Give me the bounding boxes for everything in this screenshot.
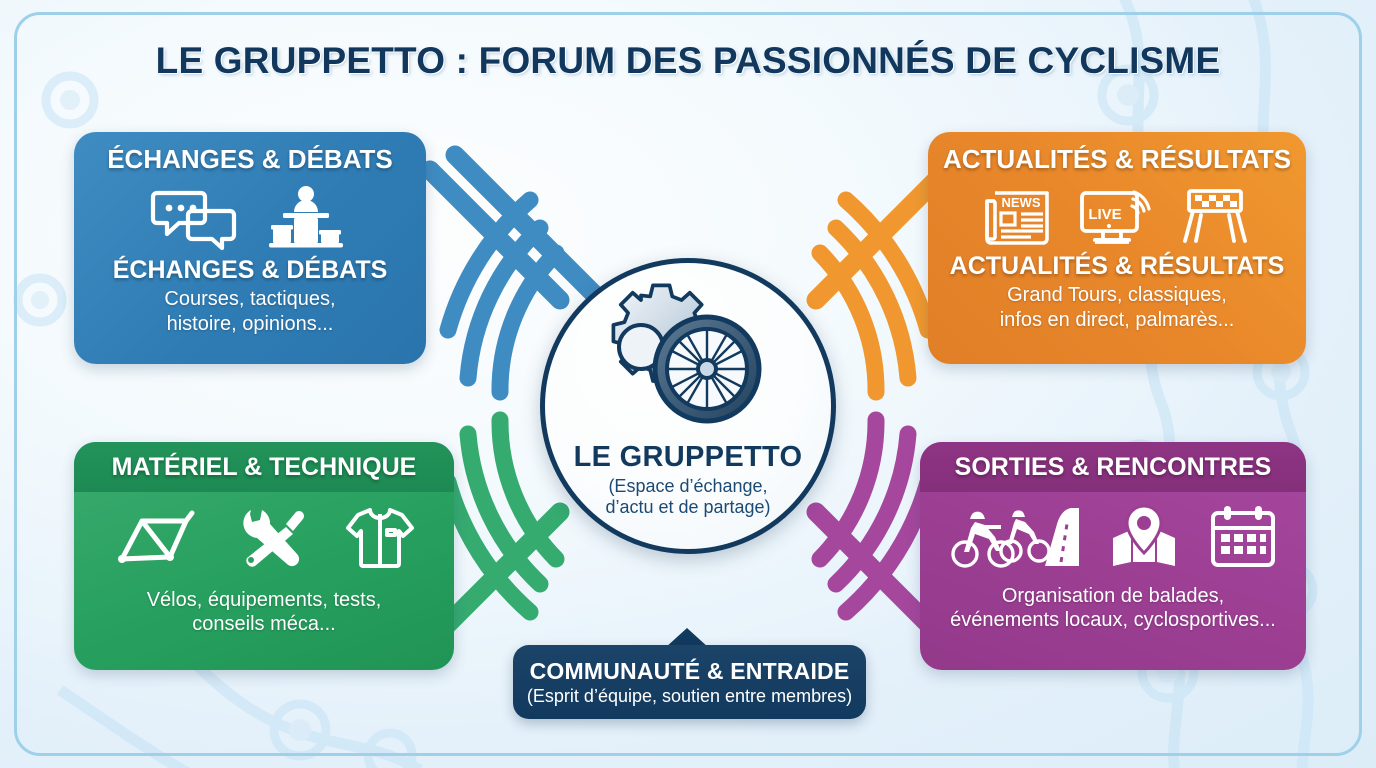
panel-sorties-icons: [920, 492, 1306, 574]
panel-echanges-icons: [74, 175, 426, 257]
panel-materiel-desc: Vélos, équipements, tests, conseils méca…: [74, 576, 454, 637]
panel-actualites-heading: ACTUALITÉS & RÉSULTATS: [928, 253, 1306, 279]
newspaper-news-icon: NEWS: [981, 185, 1051, 247]
panel-sorties-header: SORTIES & RENCONTRES: [920, 442, 1306, 492]
hub-title: LE GRUPPETTO: [574, 441, 803, 474]
podium-speaker-icon: [264, 185, 348, 251]
hub-subtitle: (Espace d’échange, d’actu et de partage): [605, 476, 770, 518]
news-label: NEWS: [1002, 195, 1041, 210]
panel-echanges-heading: ÉCHANGES & DÉBATS: [74, 257, 426, 283]
panel-actualites-desc: Grand Tours, classiques, infos en direct…: [928, 279, 1306, 332]
map-pin-icon: [1107, 504, 1181, 568]
panel-materiel-header: MATÉRIEL & TECHNIQUE: [74, 442, 454, 492]
panel-echanges-heading-top: ÉCHANGES & DÉBATS: [74, 132, 426, 175]
calendar-icon: [1209, 504, 1277, 568]
finish-line-arch-icon: [1177, 185, 1253, 247]
banner-subtitle: (Esprit d’équipe, soutien entre membres): [527, 686, 852, 707]
panel-actualites-icons: NEWS LIVE: [928, 175, 1306, 253]
banner-title: COMMUNAUTÉ & ENTRAIDE: [530, 658, 850, 685]
panel-echanges-desc: Courses, tactiques, histoire, opinions..…: [74, 283, 426, 336]
wrench-screwdriver-icon: [234, 506, 314, 570]
panel-actualites-resultats[interactable]: ACTUALITÉS & RÉSULTATS NEWS: [928, 132, 1306, 364]
banner-communaute-entraide[interactable]: COMMUNAUTÉ & ENTRAIDE (Esprit d’équipe, …: [513, 645, 866, 719]
panel-materiel-technique[interactable]: MATÉRIEL & TECHNIQUE: [74, 442, 454, 670]
panel-materiel-icons: [74, 492, 454, 576]
center-hub[interactable]: LE GRUPPETTO (Espace d’échange, d’actu e…: [540, 258, 836, 554]
panel-sorties-desc: Organisation de balades, événements loca…: [920, 574, 1306, 633]
cyclists-on-road-icon: [949, 504, 1079, 568]
speech-bubbles-icon: [152, 187, 238, 249]
live-monitor-icon: LIVE: [1077, 185, 1151, 247]
panel-sorties-rencontres[interactable]: SORTIES & RENCONTRES: [920, 442, 1306, 670]
bicycle-frame-icon: [112, 507, 204, 569]
live-label: LIVE: [1088, 206, 1121, 223]
gear-and-bicycle-wheel-icon: [599, 289, 777, 439]
cycling-jersey-icon: [344, 506, 416, 570]
panel-actualites-heading-top: ACTUALITÉS & RÉSULTATS: [928, 132, 1306, 175]
panel-echanges-debats[interactable]: ÉCHANGES & DÉBATS: [74, 132, 426, 364]
infographic-canvas: LE GRUPPETTO : FORUM DES PASSIONNÉS DE C…: [0, 0, 1376, 768]
